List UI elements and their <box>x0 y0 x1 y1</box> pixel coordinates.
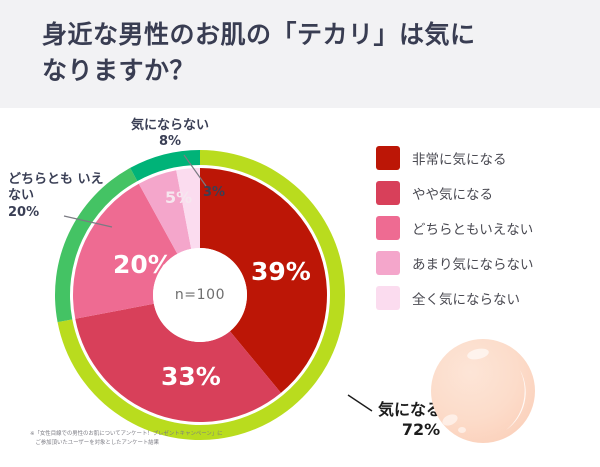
chart-panel: n=100 39% 33% 20% 5% 3% 気にならない 8% どちらとも … <box>0 108 600 467</box>
callout-not-concerned: 気にならない 8% <box>110 118 230 151</box>
legend-swatch <box>376 181 400 205</box>
legend-item[interactable]: あまり気にならない <box>376 245 582 280</box>
donut-hole <box>153 248 247 342</box>
callout-left-value: 20% <box>8 205 112 221</box>
callout-top-name: 気にならない <box>110 118 230 134</box>
legend-label: あまり気にならない <box>412 253 534 273</box>
page-title: 身近な男性のお肌の「テカリ」は気に なりますか？ <box>42 17 562 88</box>
legend-label: 非常に気になる <box>412 148 507 168</box>
legend-item[interactable]: 非常に気になる <box>376 140 582 175</box>
legend-swatch <box>376 286 400 310</box>
legend-item[interactable]: 全く気にならない <box>376 280 582 315</box>
legend-swatch <box>376 146 400 170</box>
droplet-icon <box>428 336 538 446</box>
footnote-text: ※「女性目線での男性のお肌についてアンケート！プレゼントキャンペーン」に ご参加… <box>30 430 350 449</box>
legend-label: 全く気にならない <box>412 288 520 308</box>
leader-line-bottom <box>348 395 372 411</box>
legend-item[interactable]: やや気になる <box>376 175 582 210</box>
legend-swatch <box>376 251 400 275</box>
legend-swatch <box>376 216 400 240</box>
chart-legend: 非常に気になるやや気になるどちらともいえないあまり気にならない全く気にならない <box>376 140 582 315</box>
header-banner: 身近な男性のお肌の「テカリ」は気に なりますか？ <box>0 0 600 108</box>
callout-left-name: どちらとも いえない <box>8 172 112 205</box>
legend-label: やや気になる <box>412 183 493 203</box>
infographic-page: 身近な男性のお肌の「テカリ」は気に なりますか？ n=100 39% 33% 2… <box>0 0 600 467</box>
legend-item[interactable]: どちらともいえない <box>376 210 582 245</box>
callout-neutral: どちらとも いえない 20% <box>8 172 112 221</box>
legend-label: どちらともいえない <box>412 218 533 238</box>
callout-top-value: 8% <box>110 134 230 150</box>
